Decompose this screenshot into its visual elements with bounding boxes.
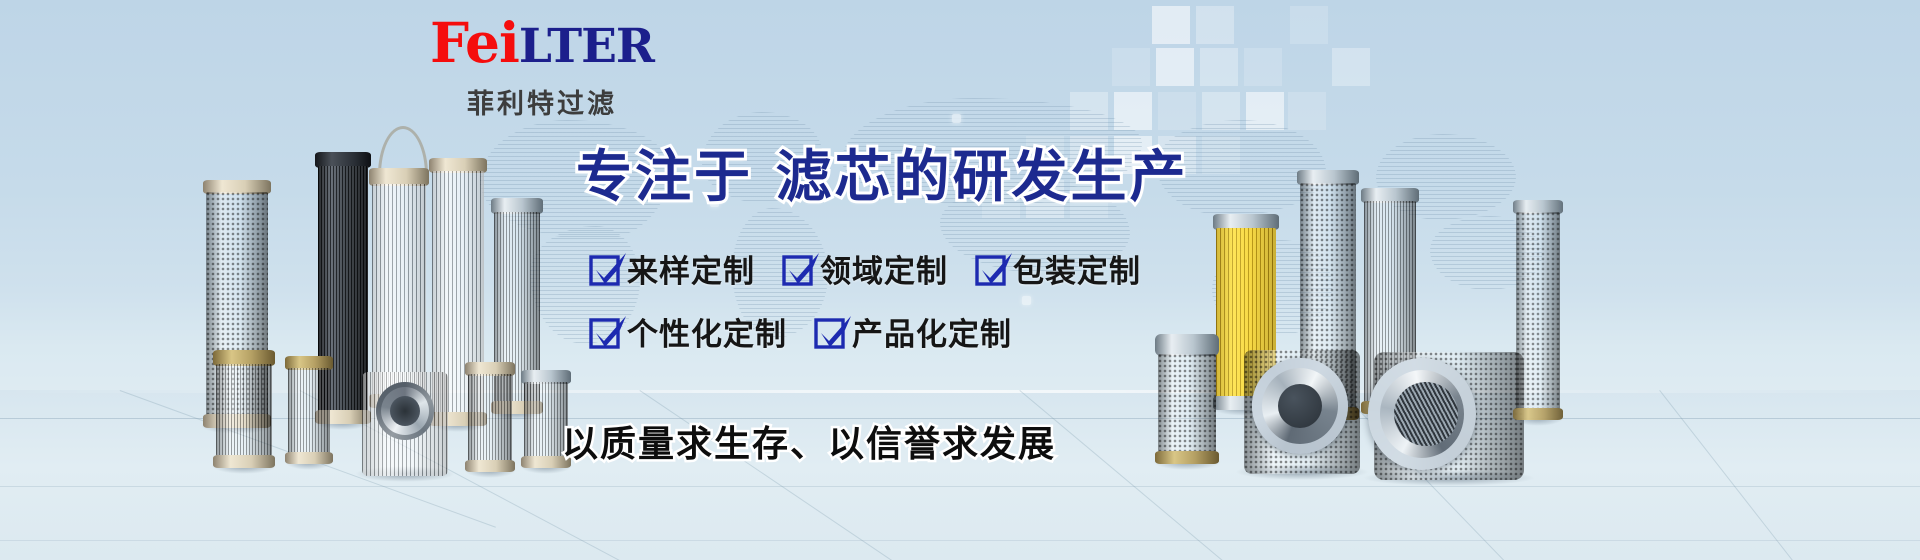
feature-list: 来样定制 领域定制 包装定制 [588, 246, 1208, 354]
promo-banner: FeiLTER 菲利特过滤 专注于 滤芯的研发生产 来样定制 [0, 0, 1920, 560]
feature-item-baozhuang[interactable]: 包装定制 [974, 246, 1141, 291]
feature-label: 包装定制 [1013, 246, 1141, 291]
feature-label: 个性化定制 [627, 309, 787, 354]
logo-wordmark: FeiLTER [392, 12, 692, 78]
tagline-text: 以质量求生存、以信誉求发展 [562, 415, 1056, 467]
checkbox-checked-icon [813, 317, 843, 347]
feature-item-lingyu[interactable]: 领域定制 [781, 246, 948, 291]
checkbox-checked-icon [588, 254, 618, 284]
feature-row-2: 个性化定制 产品化定制 [588, 309, 1208, 354]
feature-item-gexinghua[interactable]: 个性化定制 [588, 309, 787, 354]
checkbox-checked-icon [974, 254, 1004, 284]
checkbox-checked-icon [588, 317, 618, 347]
logo-wordmark-fei: Fei [430, 10, 519, 75]
logo-chinese-name: 菲利特过滤 [392, 82, 692, 121]
feature-row-1: 来样定制 领域定制 包装定制 [588, 246, 1208, 291]
feature-item-laiyang[interactable]: 来样定制 [588, 246, 755, 291]
brand-logo[interactable]: FeiLTER 菲利特过滤 [392, 12, 692, 121]
checkbox-checked-icon [781, 254, 811, 284]
feature-label: 来样定制 [627, 246, 755, 291]
feature-label: 产品化定制 [852, 309, 1012, 354]
feature-item-chanpinhua[interactable]: 产品化定制 [813, 309, 1012, 354]
headline-text: 专注于 滤芯的研发生产 [576, 146, 1189, 210]
logo-wordmark-lter: LTER [519, 19, 654, 74]
feature-label: 领域定制 [820, 246, 948, 291]
